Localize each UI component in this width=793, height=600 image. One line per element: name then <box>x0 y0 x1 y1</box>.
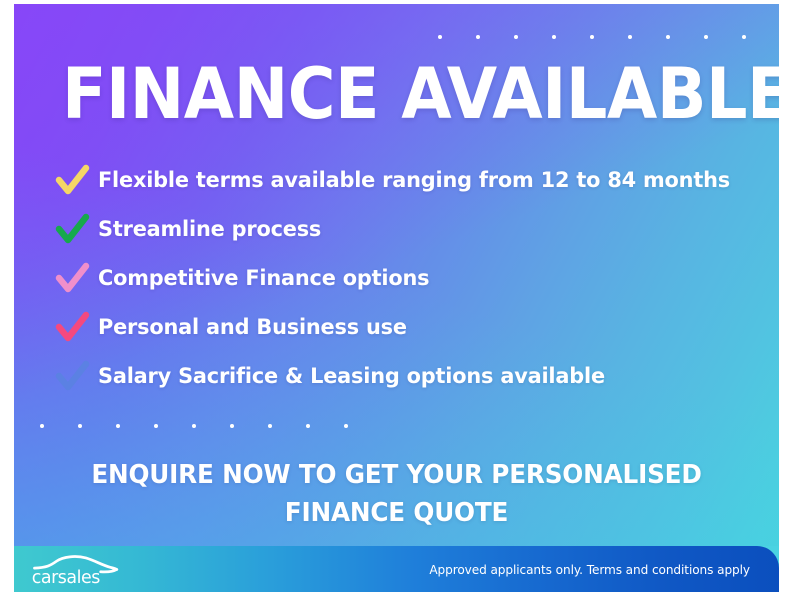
disclaimer-text: Approved applicants only. Terms and cond… <box>430 562 774 577</box>
decoration-dot <box>628 35 632 39</box>
list-item-label: Competitive Finance options <box>98 267 429 291</box>
check-icon <box>52 259 92 299</box>
decoration-dot <box>78 424 82 428</box>
svg-text:carsales: carsales <box>32 568 101 586</box>
decoration-dot <box>476 35 480 39</box>
decoration-dot <box>344 424 348 428</box>
list-item: Flexible terms available ranging from 12… <box>52 156 779 205</box>
page-title: FINANCE AVAILABLE <box>62 56 713 132</box>
page-stage: FINANCE AVAILABLE Flexible terms availab… <box>0 0 793 600</box>
list-item: Competitive Finance options <box>52 254 779 303</box>
decoration-dot <box>590 35 594 39</box>
brand-logo-area[interactable]: carsales <box>14 552 120 586</box>
list-item: Streamline process <box>52 205 779 254</box>
decoration-dot <box>154 424 158 428</box>
benefits-list: Flexible terms available ranging from 12… <box>52 156 779 401</box>
decoration-dot <box>230 424 234 428</box>
decoration-dot <box>514 35 518 39</box>
footer-bar: carsales Approved applicants only. Terms… <box>14 546 779 592</box>
carsales-logo[interactable]: carsales <box>28 552 120 586</box>
list-item: Personal and Business use <box>52 303 779 352</box>
check-icon <box>52 308 92 348</box>
finance-promo-card: FINANCE AVAILABLE Flexible terms availab… <box>14 4 779 592</box>
check-icon <box>52 357 92 397</box>
list-item-label: Salary Sacrifice & Leasing options avail… <box>98 365 605 389</box>
decoration-dot <box>306 424 310 428</box>
cta-line-2: FINANCE QUOTE <box>33 494 760 532</box>
decoration-dot <box>116 424 120 428</box>
decoration-dot <box>40 424 44 428</box>
decoration-dot <box>552 35 556 39</box>
decoration-dot <box>666 35 670 39</box>
decoration-dot <box>742 35 746 39</box>
check-icon <box>52 161 92 201</box>
call-to-action: ENQUIRE NOW TO GET YOUR PERSONALISED FIN… <box>33 456 760 532</box>
decoration-dot <box>704 35 708 39</box>
list-item-label: Streamline process <box>98 218 321 242</box>
check-icon <box>52 210 92 250</box>
dot-row-top <box>438 35 779 39</box>
cta-line-1: ENQUIRE NOW TO GET YOUR PERSONALISED <box>33 456 760 494</box>
dot-row-bottom <box>40 424 348 428</box>
list-item-label: Personal and Business use <box>98 316 407 340</box>
decoration-dot <box>268 424 272 428</box>
decoration-dot <box>192 424 196 428</box>
decoration-dot <box>438 35 442 39</box>
list-item-label: Flexible terms available ranging from 12… <box>98 169 730 193</box>
list-item: Salary Sacrifice & Leasing options avail… <box>52 352 779 401</box>
